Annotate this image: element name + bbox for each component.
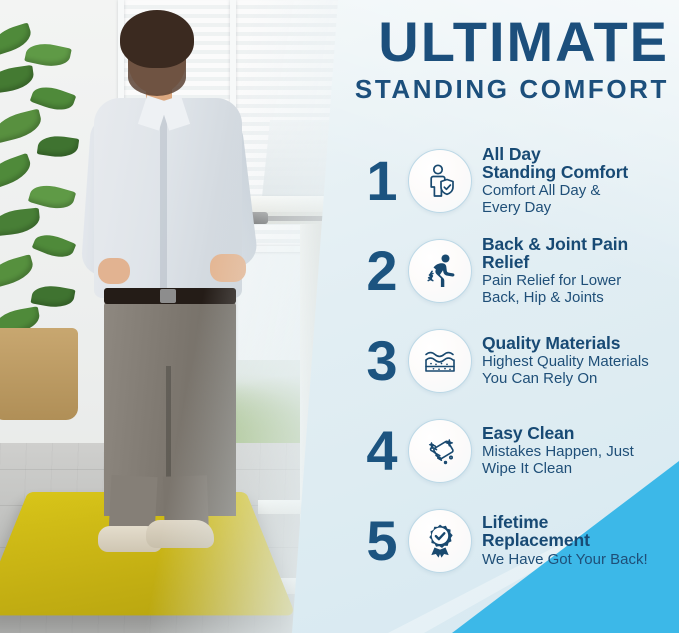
feature-desc-5-line1: We Have Got Your Back! xyxy=(482,552,679,569)
feature-heading-2-line2: Relief xyxy=(482,254,679,272)
hand-wipe-sparkle-icon xyxy=(408,419,472,483)
header: ULTIMATE STANDING COMFORT xyxy=(292,14,679,102)
feature-number-1: 1 xyxy=(360,153,404,209)
feature-heading-4: Easy Clean xyxy=(482,425,679,443)
feature-heading-3: Quality Materials xyxy=(482,335,679,353)
feature-heading-5: Lifetime Replacement xyxy=(482,514,679,550)
standing-man xyxy=(68,6,268,566)
feature-row-1: 1 All Day Standing Comfort Comfort All D… xyxy=(360,136,679,226)
feature-heading-2-line1: Back & Joint Pain xyxy=(482,236,679,254)
person-shield-icon xyxy=(408,149,472,213)
feature-desc-3-line1: Highest Quality Materials xyxy=(482,354,679,371)
feature-text-3: Quality Materials Highest Quality Materi… xyxy=(482,335,679,388)
feature-desc-2-line1: Pain Relief for Lower xyxy=(482,273,679,290)
foam-layers-icon xyxy=(408,329,472,393)
feature-desc-1-line1: Comfort All Day & xyxy=(482,183,679,200)
feature-heading-1-line2: Standing Comfort xyxy=(482,164,679,182)
feature-heading-2: Back & Joint Pain Relief xyxy=(482,236,679,272)
feature-desc-5: We Have Got Your Back! xyxy=(482,552,679,569)
right-shoe xyxy=(146,520,214,548)
feature-heading-1: All Day Standing Comfort xyxy=(482,146,679,182)
feature-desc-4: Mistakes Happen, Just Wipe It Clean xyxy=(482,444,679,477)
feature-text-2: Back & Joint Pain Relief Pain Relief for… xyxy=(482,236,679,307)
belt-buckle xyxy=(160,289,176,303)
plant-pot xyxy=(0,328,78,420)
feature-list: 1 All Day Standing Comfort Comfort All D… xyxy=(360,136,679,586)
feature-heading-5-line2: Replacement xyxy=(482,532,679,550)
feature-row-3: 3 Quality xyxy=(360,316,679,406)
feature-desc-2-line2: Back, Hip & Joints xyxy=(482,290,679,307)
feature-text-5: Lifetime Replacement We Have Got Your Ba… xyxy=(482,514,679,568)
feature-desc-1: Comfort All Day & Every Day xyxy=(482,183,679,216)
feature-desc-3: Highest Quality Materials You Can Rely O… xyxy=(482,354,679,387)
feature-heading-4-line1: Easy Clean xyxy=(482,425,679,443)
page-subtitle: STANDING COMFORT xyxy=(292,76,669,102)
feature-number-5: 5 xyxy=(360,513,404,569)
feature-row-2: 2 Back & Joint Pain Relief Pain Relief f… xyxy=(360,226,679,316)
hair xyxy=(120,10,194,68)
feature-desc-4-line1: Mistakes Happen, Just xyxy=(482,444,679,461)
feature-desc-1-line2: Every Day xyxy=(482,200,679,217)
back-pain-person-icon xyxy=(408,239,472,303)
feature-text-4: Easy Clean Mistakes Happen, Just Wipe It… xyxy=(482,425,679,478)
feature-heading-1-line1: All Day xyxy=(482,146,679,164)
left-hand xyxy=(98,258,130,284)
feature-number-4: 4 xyxy=(360,423,404,479)
shirt-placket xyxy=(160,110,167,288)
feature-heading-3-line1: Quality Materials xyxy=(482,335,679,353)
feature-row-4: 4 Easy Clean xyxy=(360,406,679,496)
feature-desc-3-line2: You Can Rely On xyxy=(482,371,679,388)
feature-desc-4-line2: Wipe It Clean xyxy=(482,461,679,478)
feature-number-3: 3 xyxy=(360,333,404,389)
page-title: ULTIMATE xyxy=(292,14,669,70)
feature-desc-2: Pain Relief for Lower Back, Hip & Joints xyxy=(482,273,679,306)
feature-number-2: 2 xyxy=(360,243,404,299)
feature-row-5: 5 Lifetime Replacement We Have Got Your … xyxy=(360,496,679,586)
feature-text-1: All Day Standing Comfort Comfort All Day… xyxy=(482,146,679,217)
product-infographic: ULTIMATE STANDING COMFORT 1 All Day Stan… xyxy=(0,0,679,633)
award-badge-check-icon xyxy=(408,509,472,573)
right-hand xyxy=(210,254,246,282)
